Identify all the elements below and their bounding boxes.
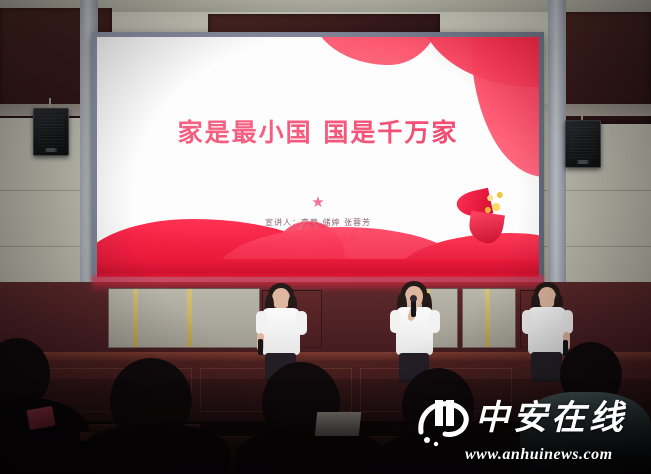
pilaster-right — [548, 0, 566, 300]
trousers — [531, 352, 562, 382]
projection-screen: 家是最小国 国是千万家 ★ 宣讲人：李静 储婷 张蓉芳 所在单位：汉湖集团 — [97, 37, 539, 277]
acoustic-panel — [462, 288, 516, 348]
slide-flag-ornament — [457, 187, 515, 249]
acoustic-panel — [108, 288, 260, 348]
microphone-head — [410, 295, 417, 302]
foreground-shadow — [0, 379, 651, 474]
sleeve-left — [256, 311, 267, 335]
flag-cloth-lower — [467, 211, 505, 245]
sleeve-right — [429, 310, 440, 333]
slide-drape-right — [471, 37, 539, 177]
slide-base-band — [97, 259, 539, 277]
wall-speaker-right — [565, 120, 601, 168]
blouse — [528, 307, 566, 354]
sleeve-right — [562, 310, 573, 334]
gold-stripe — [485, 289, 490, 347]
microphone — [258, 339, 263, 355]
speaker-brand-right — [566, 160, 600, 164]
sleeve-left — [522, 310, 533, 334]
slide-drape-left — [312, 37, 440, 65]
sleeve-right — [296, 311, 307, 335]
blouse — [262, 308, 300, 355]
gold-stripe — [133, 289, 138, 347]
wall-speaker-left — [33, 108, 69, 156]
slide-title: 家是最小国 国是千万家 — [97, 113, 539, 149]
sleeve-left — [390, 310, 401, 333]
speaker-brand-left — [34, 148, 68, 152]
news-photo: 家是最小国 国是千万家 ★ 宣讲人：李静 储婷 张蓉芳 所在单位：汉湖集团 — [0, 0, 651, 474]
gold-stripe — [187, 289, 192, 347]
